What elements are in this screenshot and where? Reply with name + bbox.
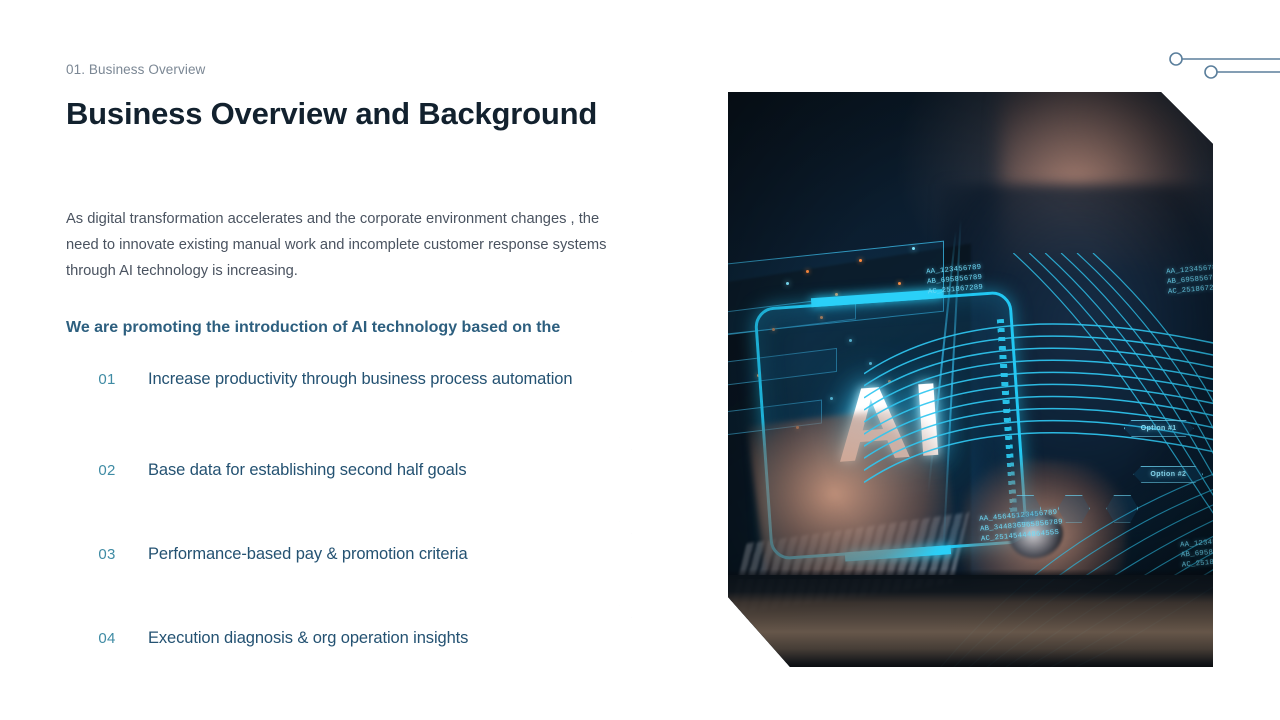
background-points-list: 01 Increase productivity through busines…: [66, 339, 632, 689]
card-label: Execution diagnosis & org operation insi…: [148, 625, 496, 651]
card-label: Base data for establishing second half g…: [148, 457, 494, 483]
desk-surface: [728, 575, 1213, 667]
card-number: 01: [66, 371, 148, 388]
list-item[interactable]: 02 Base data for establishing second hal…: [66, 437, 632, 503]
hud-option-2: Option #2: [1133, 466, 1203, 483]
connector-node-2-icon: [1205, 66, 1217, 78]
decorative-connector-lines: [1160, 40, 1280, 90]
card-number: 02: [66, 462, 148, 479]
section-eyebrow: 01. Business Overview: [66, 62, 646, 77]
hud-code-group-4: AA_12345AB_69585AC_25186: [1180, 538, 1213, 571]
list-item[interactable]: 03 Performance-based pay & promotion cri…: [66, 521, 632, 587]
connector-node-1-icon: [1170, 53, 1182, 65]
page-title: Business Overview and Background: [66, 95, 646, 132]
list-item[interactable]: 01 Increase productivity through busines…: [66, 339, 632, 419]
card-number: 03: [66, 546, 148, 563]
slide-text-column: 01. Business Overview Business Overview …: [66, 62, 646, 362]
hero-image: AI: [728, 92, 1213, 667]
list-item[interactable]: 04 Execution diagnosis & org operation i…: [66, 605, 632, 671]
lead-paragraph: As digital transformation accelerates an…: [66, 206, 632, 284]
card-label: Increase productivity through business p…: [148, 366, 600, 392]
hud-code-group-1: AA_123456789AB_695856789AC_251867289: [926, 262, 984, 297]
hud-option-1: Option #1: [1124, 420, 1194, 437]
card-label: Performance-based pay & promotion criter…: [148, 541, 496, 567]
hud-code-group-2: AA_123456789AB_695856789AC_251867289: [1166, 262, 1213, 297]
card-number: 04: [66, 630, 148, 647]
